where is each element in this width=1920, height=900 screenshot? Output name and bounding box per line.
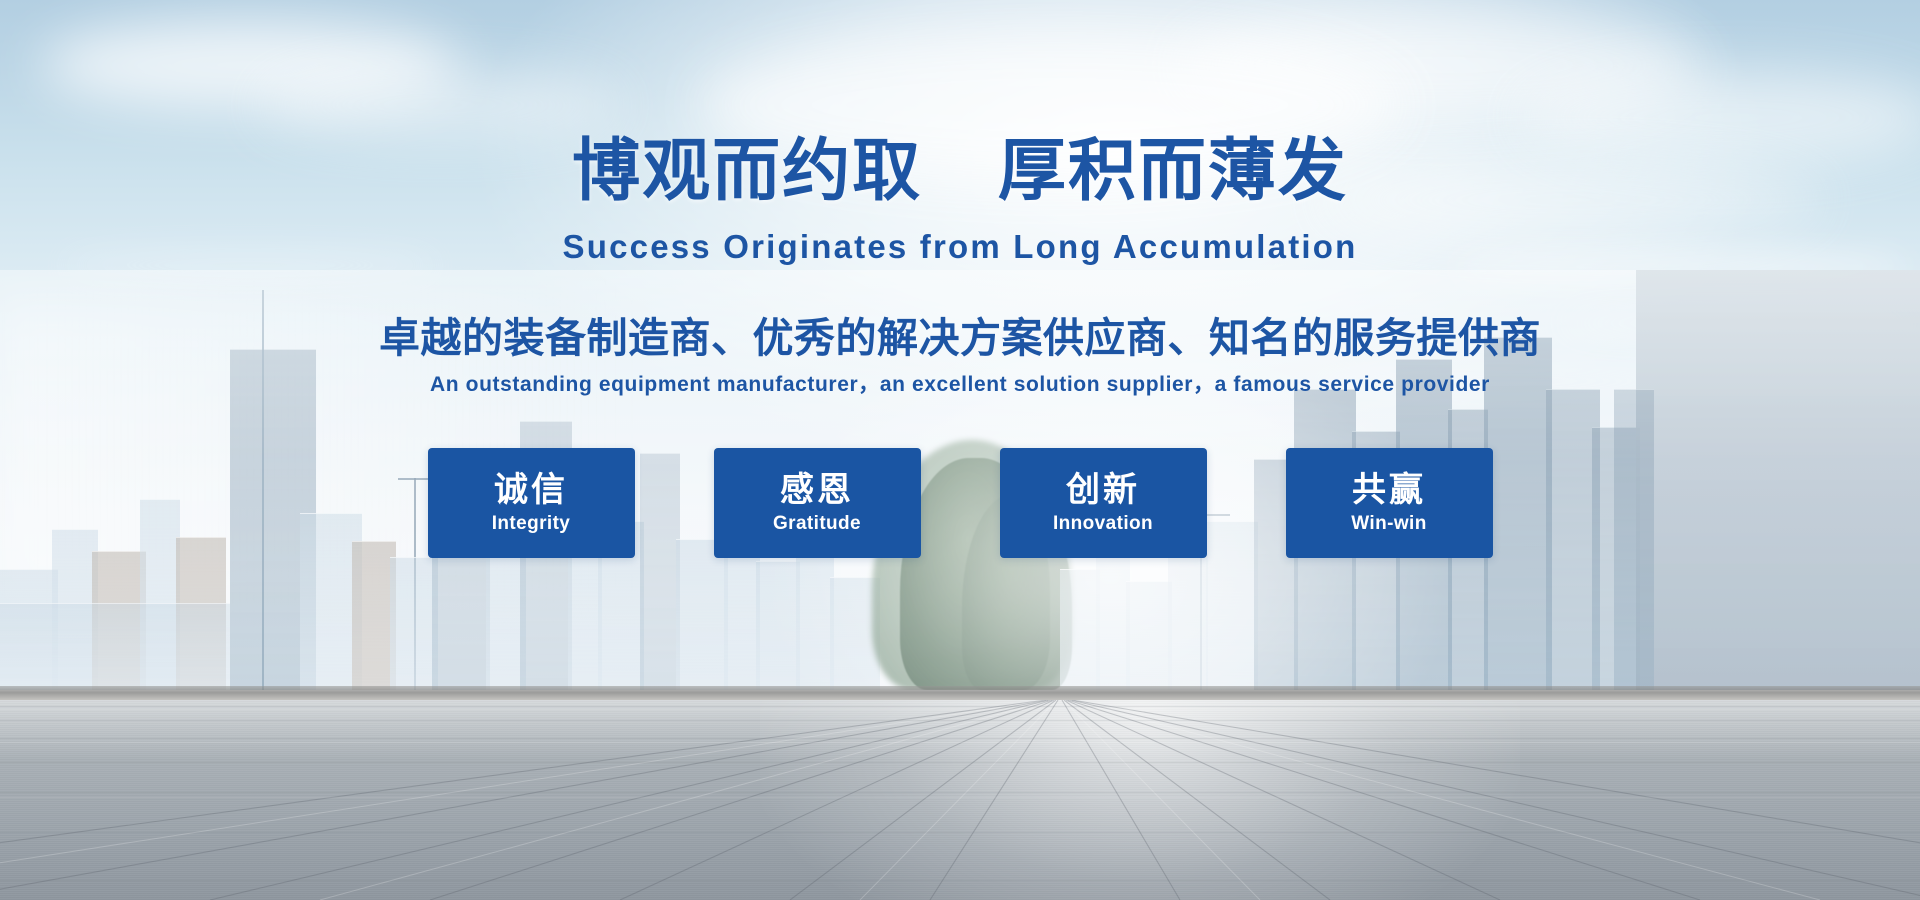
value-card-winwin[interactable]: 共赢 Win-win [1286, 448, 1493, 558]
value-cards: 诚信 Integrity 感恩 Gratitude 创新 Innovation … [0, 448, 1920, 558]
subline-english: An outstanding equipment manufacturer，an… [0, 368, 1920, 398]
value-card-winwin-cn: 共赢 [1352, 471, 1426, 510]
hero-banner: 博观而约取 厚积而薄发 Success Originates from Long… [0, 0, 1920, 900]
value-card-innovation-cn: 创新 [1066, 471, 1140, 510]
plaza-perspective-lines [0, 700, 1920, 900]
value-card-winwin-en: Win-win [1351, 513, 1426, 535]
value-card-integrity-en: Integrity [492, 513, 571, 535]
headline-chinese-part1: 博观而约取 [572, 133, 922, 209]
value-card-gratitude[interactable]: 感恩 Gratitude [714, 448, 921, 558]
headline-chinese: 博观而约取 厚积而薄发 [0, 115, 1920, 214]
value-card-gratitude-cn: 感恩 [780, 471, 854, 510]
plaza-floor [0, 700, 1920, 900]
headline-chinese-part2: 厚积而薄发 [998, 133, 1348, 209]
value-card-innovation[interactable]: 创新 Innovation [1000, 448, 1207, 558]
subline-chinese: 卓越的装备制造商、优秀的解决方案供应商、知名的服务提供商 [0, 304, 1920, 364]
value-card-integrity-cn: 诚信 [494, 471, 568, 510]
value-card-integrity[interactable]: 诚信 Integrity [428, 448, 635, 558]
headline-english: Success Originates from Long Accumulatio… [0, 228, 1920, 266]
value-card-innovation-en: Innovation [1053, 513, 1153, 535]
value-card-gratitude-en: Gratitude [773, 513, 861, 535]
